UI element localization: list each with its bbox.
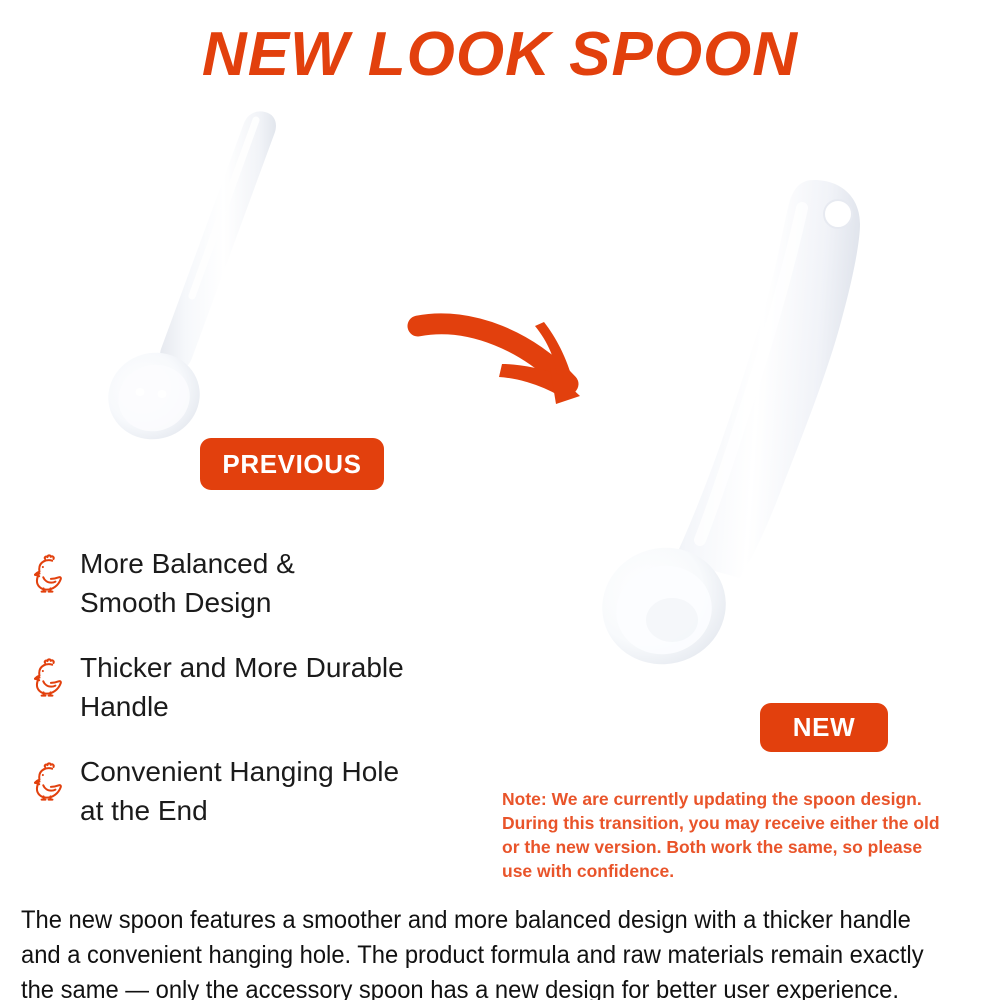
- old-spoon-photo: [96, 96, 326, 446]
- chicken-icon: [26, 654, 72, 700]
- badge-new: NEW: [760, 703, 888, 752]
- old-spoon-highlight-left: [136, 388, 145, 396]
- feature-label: Thicker and More Durable Handle: [80, 648, 404, 726]
- infographic-canvas: NEW LOOK SPOON: [0, 0, 1000, 1000]
- transition-note: Note: We are currently updating the spoo…: [502, 787, 950, 883]
- old-spoon-illustration: [96, 96, 326, 446]
- feature-item-hanging-hole: Convenient Hanging Hole at the End: [26, 752, 496, 830]
- feature-label: More Balanced & Smooth Design: [80, 544, 295, 622]
- feature-item-durable-handle: Thicker and More Durable Handle: [26, 648, 496, 726]
- chicken-icon: [26, 550, 72, 596]
- new-spoon-photo: [588, 168, 908, 688]
- badge-previous: PREVIOUS: [200, 438, 384, 490]
- summary-paragraph: The new spoon features a smoother and mo…: [21, 903, 935, 1000]
- old-spoon-handle: [160, 111, 276, 371]
- feature-list: More Balanced & Smooth Design: [26, 544, 496, 856]
- page-title: NEW LOOK SPOON: [0, 22, 1000, 88]
- old-spoon-highlight-right: [158, 390, 167, 398]
- new-spoon-illustration: [588, 168, 908, 688]
- new-spoon-bowl-shadow: [646, 598, 698, 642]
- chicken-icon: [26, 758, 72, 804]
- feature-item-balanced-design: More Balanced & Smooth Design: [26, 544, 496, 622]
- feature-label: Convenient Hanging Hole at the End: [80, 752, 399, 830]
